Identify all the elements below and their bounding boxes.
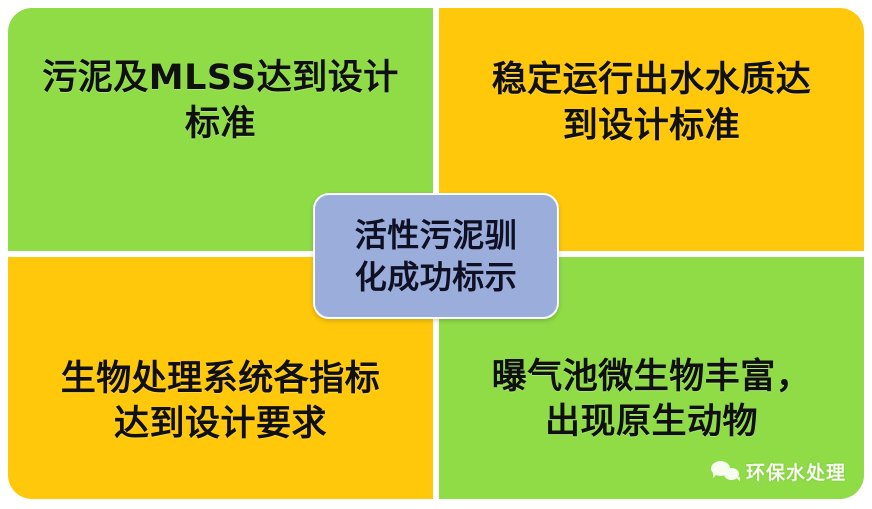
quadrant-top-right-text: 稳定运行出水水质达 到设计标准 <box>492 58 812 149</box>
diagram-canvas: 污泥及MLSS达到设计 标准 稳定运行出水水质达 到设计标准 生物处理系统各指标… <box>0 0 872 509</box>
wechat-icon <box>711 461 741 483</box>
quadrant-bottom-right-text: 曝气池微生物丰富， 出现原生动物 <box>492 355 812 446</box>
quadrant-top-left-text: 污泥及MLSS达到设计 标准 <box>42 56 398 147</box>
quadrant-bottom-left-text: 生物处理系统各指标 达到设计要求 <box>61 357 381 448</box>
watermark-label: 环保水处理 <box>746 458 846 485</box>
center-callout-text: 活性污泥驯 化成功标示 <box>355 214 518 298</box>
watermark: 环保水处理 <box>711 458 846 485</box>
center-callout[interactable]: 活性污泥驯 化成功标示 <box>313 193 559 319</box>
